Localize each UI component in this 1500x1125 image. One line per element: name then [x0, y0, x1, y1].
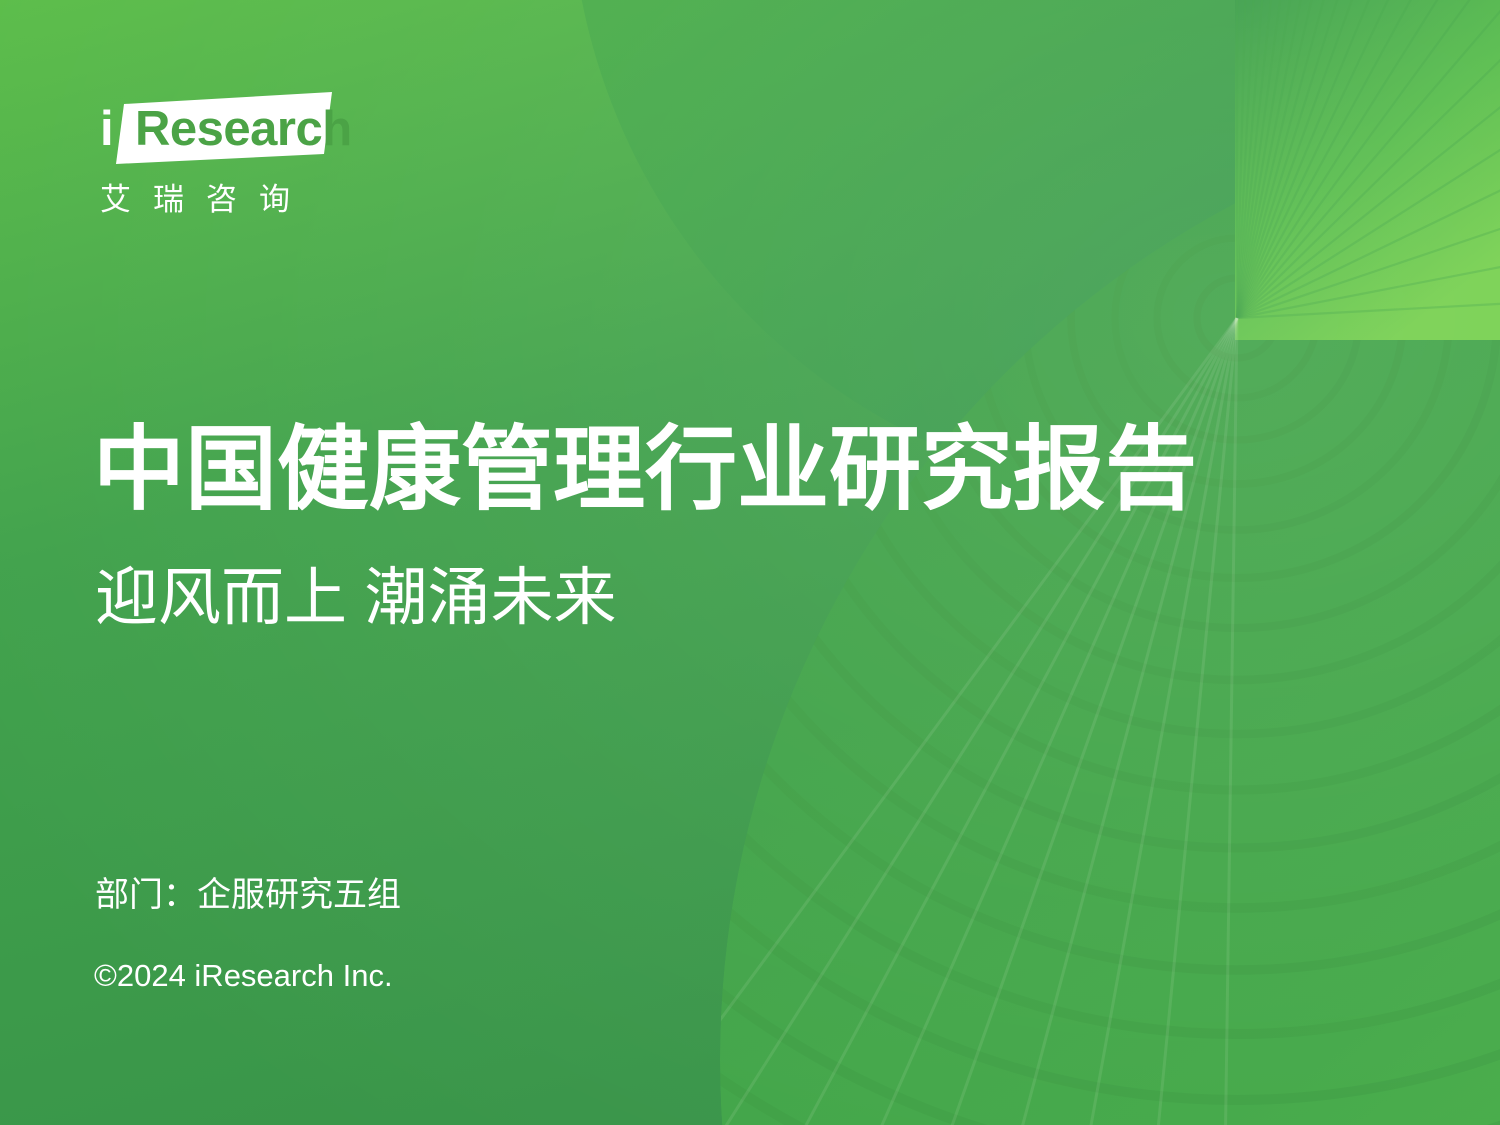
- logo-mark: i Research: [88, 92, 333, 166]
- cover-subtitle: 迎风而上 潮涌未来: [95, 556, 617, 640]
- logo-wordmark: Research: [135, 98, 352, 160]
- logo-chinese-name: 艾瑞咨询: [100, 174, 312, 219]
- department-label: 部门：企服研究五组: [95, 872, 401, 918]
- logo-letter-i: i: [100, 98, 114, 160]
- cover-title: 中国健康管理行业研究报告: [93, 418, 1197, 522]
- iresearch-logo: i Research 艾瑞咨询: [88, 92, 388, 232]
- report-cover-slide: i Research 艾瑞咨询 中国健康管理行业研究报告 迎风而上 潮涌未来 部…: [0, 0, 1500, 1125]
- copyright-notice: ©2024 iResearch Inc.: [94, 955, 393, 997]
